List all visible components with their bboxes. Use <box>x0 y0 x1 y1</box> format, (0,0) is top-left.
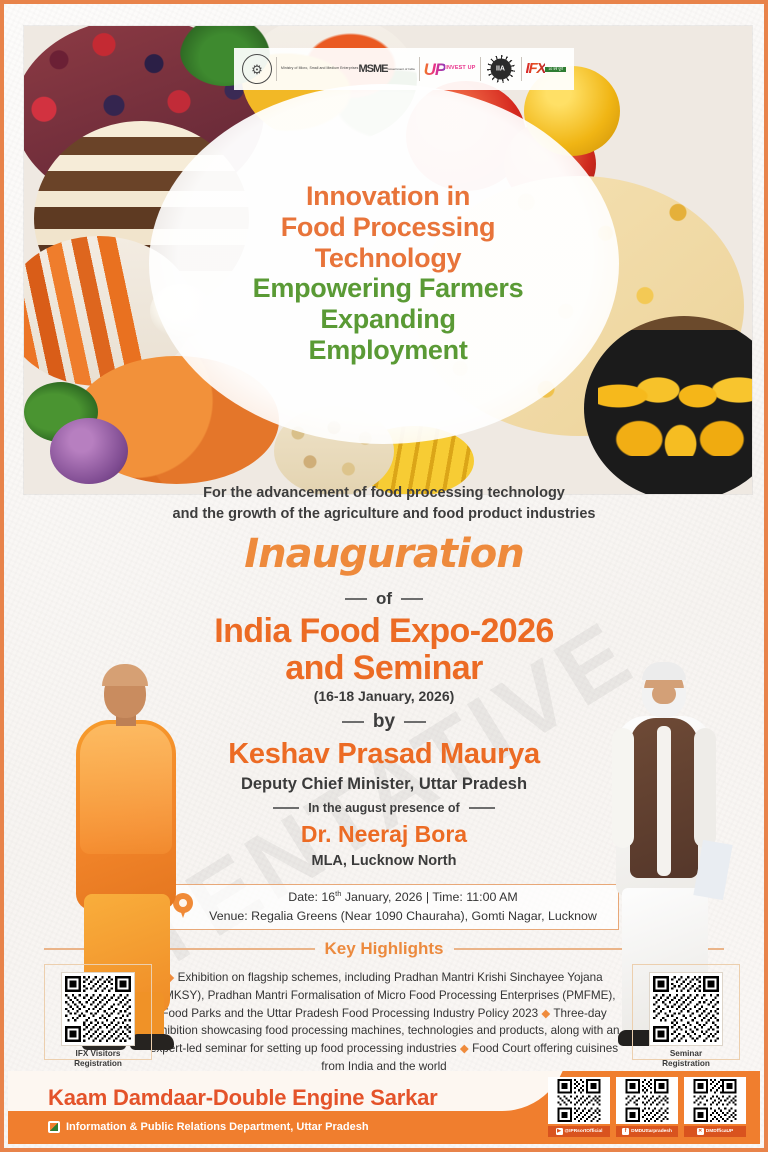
ifx-qr-label-line-2: Registration <box>52 1059 144 1069</box>
logo-divider <box>419 57 420 81</box>
social-qr-group: ▶ @IPRsortOfficial <box>548 1077 746 1137</box>
footer-department: Information & Public Relations Departmen… <box>48 1121 369 1133</box>
hair-graphic <box>102 664 148 686</box>
headline-line-2: Food Processing <box>24 212 752 243</box>
footer-slogan: Kaam Damdaar-Double Engine Sarkar <box>48 1085 438 1111</box>
face-graphic <box>652 684 676 704</box>
venue-line: Venue: Regalia Greens (Near 1090 Chaurah… <box>198 907 608 926</box>
date-suffix: January, 2026 | Time: 11:00 AM <box>341 890 517 904</box>
hero-food-collage-image: ⚙ Ministry of Micro, Small and Medium En… <box>24 26 752 494</box>
arm-left-graphic <box>612 728 634 848</box>
facebook-handle: DMDUttarpradesh <box>631 1129 672 1134</box>
youtube-qr-block[interactable]: ▶ @IPRsortOfficial <box>548 1077 610 1137</box>
seminar-qr-label-line-1: Seminar <box>640 1049 732 1059</box>
subtitle-line-1: For the advancement of food processing t… <box>4 483 764 504</box>
venue-text: Date: 16th January, 2026 | Time: 11:00 A… <box>198 888 618 925</box>
subtitle-line-2: and the growth of the agriculture and fo… <box>4 504 764 525</box>
youtube-handle: @IPRsortOfficial <box>565 1129 603 1134</box>
presence-label-text: In the august presence of <box>308 801 459 815</box>
ifx-visitors-registration-qr[interactable] <box>61 972 135 1046</box>
hero-headline: Innovation in Food Processing Technology… <box>24 181 752 366</box>
key-highlights-list: ◆ Exhibition on flagship schemes, includ… <box>144 969 624 1076</box>
headline-line-3: Technology <box>24 243 752 274</box>
footer-department-text: Information & Public Relations Departmen… <box>66 1121 369 1133</box>
facebook-handle-tag: f DMDUttarpradesh <box>616 1126 678 1137</box>
event-title-line-1: India Food Expo-2026 <box>4 613 764 650</box>
seminar-qr-label: Seminar Registration <box>640 1049 732 1070</box>
youtube-qr[interactable] <box>548 1077 610 1124</box>
msme-mark-text: MSME <box>358 64 387 75</box>
bullet-glyph: ◆ <box>460 1042 469 1055</box>
facebook-icon: f <box>622 1128 629 1135</box>
ifx-qr-label: IFX Visitors Registration <box>52 1049 144 1070</box>
logo-divider <box>521 57 522 81</box>
headline-line-1: Innovation in <box>24 181 752 212</box>
up-government-emblem-logo: ⚙ <box>242 52 272 86</box>
poster-root: ⚙ Ministry of Micro, Small and Medium En… <box>0 0 768 1152</box>
logo-strip: ⚙ Ministry of Micro, Small and Medium En… <box>234 48 574 90</box>
seminar-registration-qr[interactable] <box>649 972 723 1046</box>
msme-bottom-text: Government of India <box>387 68 414 71</box>
ifx-qr-label-line-1: IFX Visitors <box>52 1049 144 1059</box>
bullet-glyph: ◆ <box>541 1007 550 1020</box>
invest-up-logo: UP INVEST UP <box>424 52 476 86</box>
scarf-graphic <box>80 724 172 854</box>
ifx-mark: IFX <box>526 61 546 77</box>
youtube-icon: ▶ <box>556 1128 563 1135</box>
x-qr-block[interactable]: ✕ DMDfficaUP <box>684 1077 746 1137</box>
logo-divider <box>480 57 481 81</box>
headline-line-5: Expanding <box>24 304 752 335</box>
x-handle: DMDfficaUP <box>706 1129 733 1134</box>
date-time-line: Date: 16th January, 2026 | Time: 11:00 A… <box>198 888 608 907</box>
x-handle-tag: ✕ DMDfficaUP <box>684 1126 746 1137</box>
department-emblem-icon <box>48 1121 60 1133</box>
vest-graphic <box>630 718 698 878</box>
ifx-visitors-registration-block[interactable]: IFX Visitors Registration <box>52 972 144 1070</box>
arm-right-graphic <box>694 728 716 848</box>
x-qr[interactable] <box>684 1077 746 1124</box>
date-venue-box: Date: 16th January, 2026 | Time: 11:00 A… <box>159 884 619 930</box>
subtitle-block: For the advancement of food processing t… <box>4 483 764 525</box>
facebook-qr[interactable] <box>616 1077 678 1124</box>
seminar-registration-block[interactable]: Seminar Registration <box>640 972 732 1070</box>
inauguration-title: Inauguration <box>4 531 764 577</box>
corn-cobs-graphic <box>584 26 752 182</box>
footer-bar: Kaam Damdaar-Double Engine Sarkar Inform… <box>8 1071 760 1144</box>
iia-gear-icon <box>487 55 515 83</box>
invest-up-mark: UP <box>424 61 446 78</box>
ifx-ribbon: 10 वर्ष पूर्ण <box>545 67 566 73</box>
of-label-text: of <box>376 589 392 609</box>
msme-top-text: Ministry of Micro, Small and Medium Ente… <box>281 67 358 70</box>
headline-line-6: Employment <box>24 335 752 366</box>
youtube-handle-tag: ▶ @IPRsortOfficial <box>548 1126 610 1137</box>
of-label: of <box>4 589 764 609</box>
up-government-emblem-icon: ⚙ <box>242 54 272 84</box>
key-highlights-title: Key Highlights <box>325 939 444 959</box>
date-prefix: Date: 16 <box>288 890 335 904</box>
headline-line-4: Empowering Farmers <box>24 273 752 304</box>
logo-divider <box>276 57 277 81</box>
x-icon: ✕ <box>697 1128 704 1135</box>
invest-up-label: INVEST UP <box>445 66 475 71</box>
msme-logo: Ministry of Micro, Small and Medium Ente… <box>281 52 415 86</box>
facebook-qr-block[interactable]: f DMDUttarpradesh <box>616 1077 678 1137</box>
onion-graphic <box>50 418 128 484</box>
seminar-qr-label-line-2: Registration <box>640 1059 732 1069</box>
ifx-logo: IFX 10 वर्ष पूर्ण <box>526 52 566 86</box>
iia-logo <box>485 54 517 84</box>
by-label-text: by <box>373 711 395 733</box>
hair-graphic <box>642 662 686 680</box>
